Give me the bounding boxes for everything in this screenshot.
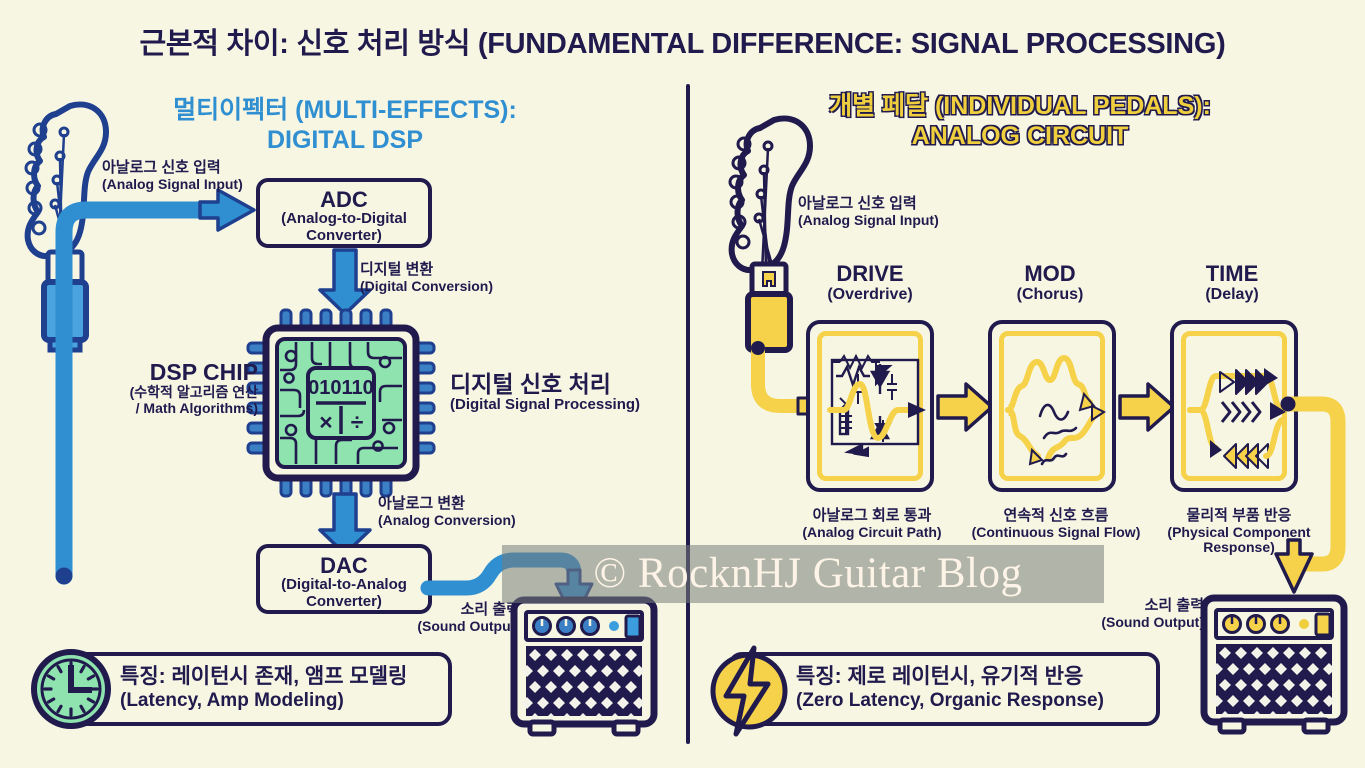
chip-binary-text: 010110 — [308, 377, 374, 399]
right-feature-line2: (Zero Latency, Organic Response) — [796, 690, 1142, 712]
left-section-heading: 멀티이펙터 (MULTI-EFFECTS): DIGITAL DSP — [110, 96, 580, 155]
amp-indicator-led — [1299, 619, 1309, 629]
clock-icon — [30, 648, 112, 730]
caption-drive-en: (Analog Circuit Path) — [786, 525, 958, 541]
adc-sub-line1: (Analog-to-Digital — [260, 211, 428, 228]
pedal-time-sub: (Delay) — [1152, 286, 1312, 304]
dsp-chip-icon[interactable]: 010110 × ÷ — [246, 308, 436, 498]
yellow-cable-time-to-amp — [1288, 396, 1365, 626]
caption-mod-en: (Continuous Signal Flow) — [960, 525, 1152, 541]
left-analog-input-label: 아날로그 신호 입력 (Analog Signal Input) — [102, 160, 272, 192]
dsp-right-label-ko: 디지털 신호 처리 — [450, 372, 680, 396]
pedal-mod[interactable] — [988, 320, 1116, 492]
right-analog-input-en: (Analog Signal Input) — [798, 213, 978, 229]
pedal-label-mod: MOD (Chorus) — [970, 262, 1130, 304]
left-analog-input-ko: 아날로그 신호 입력 — [102, 160, 272, 177]
pedal-mod-name: MOD — [970, 262, 1130, 286]
left-feature-callout[interactable]: 특징: 레이턴시 존재, 앰프 모델링 (Latency, Amp Modeli… — [52, 652, 452, 726]
amplifier-yellow-icon — [1198, 594, 1350, 740]
dsp-chip-detail-1: (수학적 알고리즘 연산 — [88, 384, 258, 400]
dsp-chip-detail-2: / Math Algorithms) — [88, 400, 258, 416]
dsp-right-label-en: (Digital Signal Processing) — [450, 396, 680, 413]
adc-title: ADC — [260, 188, 428, 211]
amp-knobs-blue — [534, 618, 599, 635]
adc-box[interactable]: ADC (Analog-to-Digital Converter) — [256, 178, 432, 248]
arrow-drive-to-mod — [938, 382, 994, 432]
pedal-drive-name: DRIVE — [790, 262, 950, 286]
amplifier-blue-icon — [508, 596, 660, 742]
page-title: 근본적 차이: 신호 처리 방식 (FUNDAMENTAL DIFFERENCE… — [0, 20, 1365, 62]
analog-conversion-label: 아날로그 변환 (Analog Conversion) — [378, 496, 568, 528]
left-analog-input-en: (Analog Signal Input) — [102, 177, 272, 193]
pedal-mod-sub: (Chorus) — [970, 286, 1130, 304]
pedal-label-drive: DRIVE (Overdrive) — [790, 262, 950, 304]
analog-conversion-en: (Analog Conversion) — [378, 513, 568, 529]
lightning-bolt-icon — [706, 646, 792, 736]
section-divider — [686, 84, 690, 744]
left-heading-line2: DIGITAL DSP — [267, 126, 423, 154]
dac-sub-line1: (Digital-to-Analog — [260, 577, 428, 594]
adc-sub-line2: Converter) — [260, 228, 428, 245]
pedal-drive-sub: (Overdrive) — [790, 286, 950, 304]
right-sound-output-en: (Sound Output) — [1078, 615, 1204, 631]
right-analog-input-label: 아날로그 신호 입력 (Analog Signal Input) — [798, 196, 978, 228]
left-heading-line1: 멀티이펙터 (MULTI-EFFECTS): — [173, 96, 517, 124]
dac-title: DAC — [260, 554, 428, 577]
dsp-chip-title: DSP CHIP — [88, 360, 258, 384]
amp-knobs-yellow — [1224, 616, 1289, 633]
amp-grille-mesh — [521, 646, 645, 719]
left-sound-output-label: 소리 출력 (Sound Output) — [392, 602, 520, 634]
dsp-chip-left-label: DSP CHIP (수학적 알고리즘 연산 / Math Algorithms) — [88, 360, 258, 416]
chip-divide-symbol: ÷ — [351, 409, 364, 435]
left-sound-output-en: (Sound Output) — [392, 619, 520, 635]
caption-mod-ko: 연속적 신호 흐름 — [960, 508, 1152, 525]
caption-drive: 아날로그 회로 통과 (Analog Circuit Path) — [786, 508, 958, 540]
analog-conversion-ko: 아날로그 변환 — [378, 496, 568, 513]
right-heading-line1: 개별 페달 (INDIVIDUAL PEDALS): — [829, 92, 1211, 120]
right-feature-line1: 특징: 제로 레이턴시, 유기적 반응 — [796, 665, 1142, 690]
pedal-time-name: TIME — [1152, 262, 1312, 286]
digital-conversion-en: (Digital Conversion) — [360, 279, 540, 295]
left-feature-line2: (Latency, Amp Modeling) — [120, 690, 434, 712]
right-heading-line2: ANALOG CIRCUIT — [912, 122, 1129, 150]
arrow-mod-to-time — [1120, 382, 1176, 432]
infographic-canvas: 근본적 차이: 신호 처리 방식 (FUNDAMENTAL DIFFERENCE… — [0, 0, 1365, 768]
left-feature-line1: 특징: 레이턴시 존재, 앰프 모델링 — [120, 665, 434, 690]
caption-drive-ko: 아날로그 회로 통과 — [786, 508, 958, 525]
digital-conversion-label: 디지털 변환 (Digital Conversion) — [360, 262, 540, 294]
right-analog-input-ko: 아날로그 신호 입력 — [798, 196, 978, 213]
digital-conversion-ko: 디지털 변환 — [360, 262, 540, 279]
pedal-drive[interactable] — [806, 320, 934, 492]
watermark-text: © RocknHJ Guitar Blog — [498, 541, 1118, 605]
amp-grille-mesh — [1211, 644, 1335, 717]
pedal-label-time: TIME (Delay) — [1152, 262, 1312, 304]
pedal-time[interactable] — [1170, 320, 1298, 492]
right-feature-callout[interactable]: 특징: 제로 레이턴시, 유기적 반응 (Zero Latency, Organ… — [728, 652, 1160, 726]
caption-mod: 연속적 신호 흐름 (Continuous Signal Flow) — [960, 508, 1152, 540]
amp-indicator-led — [609, 621, 619, 631]
chip-multiply-symbol: × — [319, 409, 332, 435]
dsp-chip-right-label: 디지털 신호 처리 (Digital Signal Processing) — [450, 372, 680, 413]
